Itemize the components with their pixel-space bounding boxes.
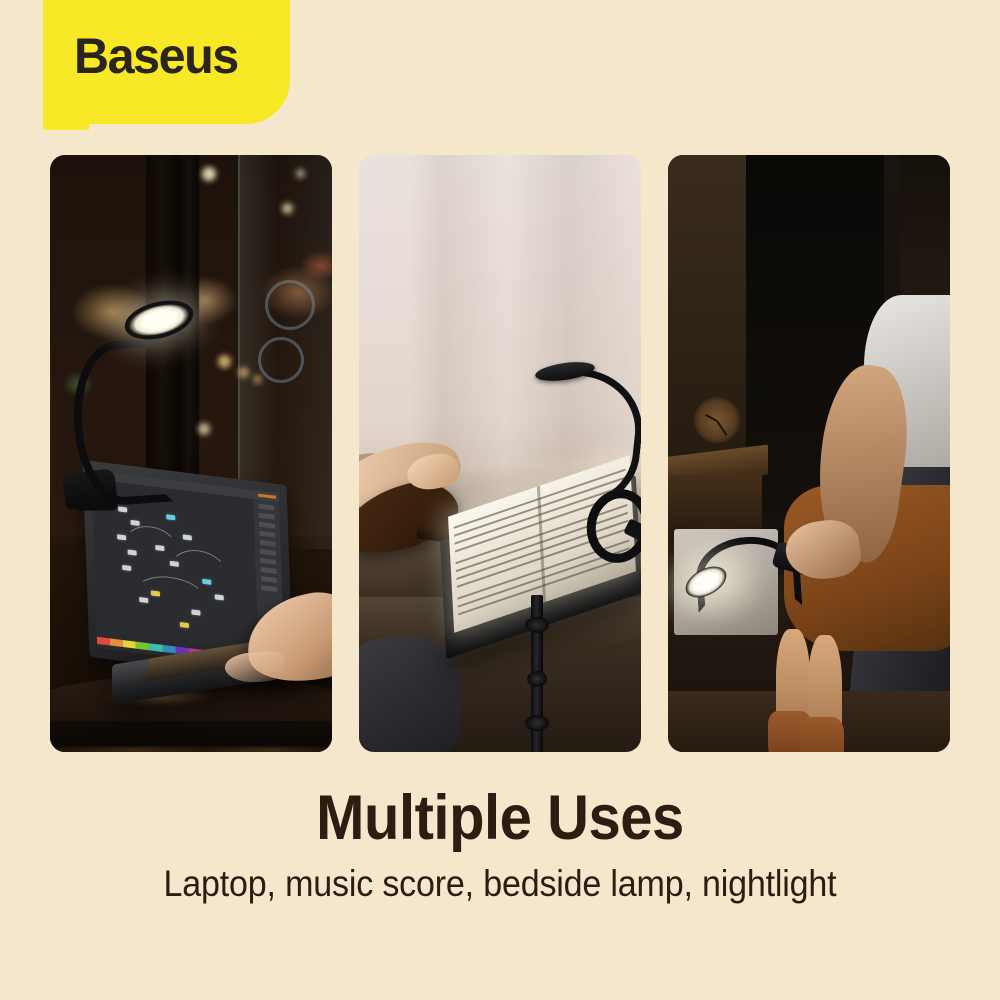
panel-bedside — [668, 155, 950, 752]
bokeh-light — [282, 203, 293, 214]
panel-laptop — [50, 155, 332, 752]
window-decal — [265, 280, 315, 330]
bokeh-light — [198, 423, 210, 435]
brand-logo-text: Baseus — [74, 30, 238, 82]
caption-block: Multiple Uses Laptop, music score, bedsi… — [0, 782, 1000, 906]
bokeh-light — [218, 355, 231, 368]
cafe-floor — [50, 747, 332, 752]
bokeh-light — [296, 169, 305, 178]
badge-tail — [43, 116, 89, 130]
bokeh-light — [253, 375, 262, 384]
stand-adjust-knob — [525, 715, 549, 731]
headline: Multiple Uses — [40, 782, 960, 854]
panel-music-score — [359, 155, 641, 752]
product-marketing-image: Baseus — [0, 0, 1000, 1000]
stand-adjust-knob — [525, 617, 549, 633]
bokeh-light — [238, 367, 249, 378]
stand-adjust-knob — [527, 671, 547, 687]
bokeh-light — [202, 167, 216, 181]
panel-row — [50, 155, 950, 752]
wooden-clock — [694, 397, 740, 443]
person-sock — [800, 717, 844, 752]
subline: Laptop, music score, bedside lamp, night… — [40, 862, 960, 906]
window-decal — [258, 337, 304, 383]
